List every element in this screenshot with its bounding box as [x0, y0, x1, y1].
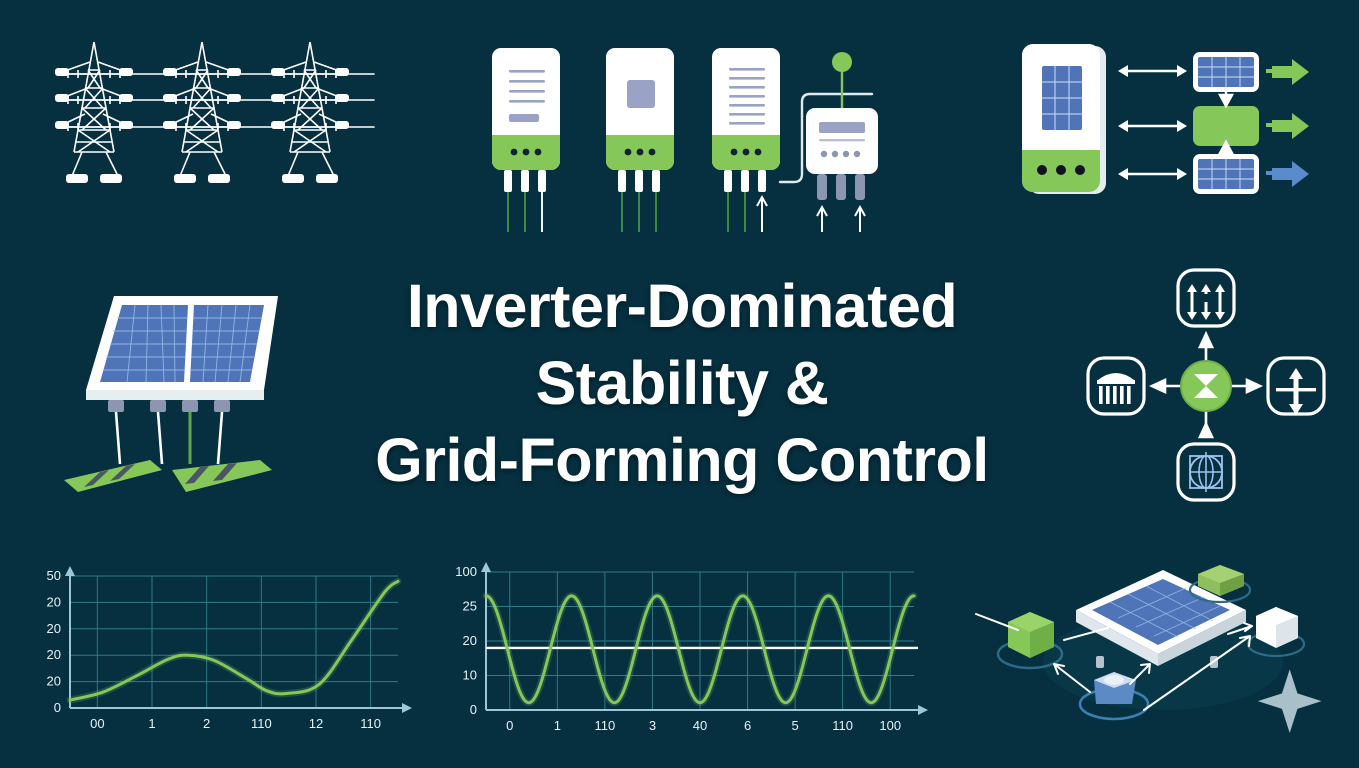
y-axis-tick-label: 20	[47, 647, 61, 662]
tower	[163, 42, 241, 183]
x-axis-tick-label: 100	[879, 718, 901, 733]
title-line-2: Stability &	[320, 345, 1044, 422]
x-axis-tick-label: 110	[595, 718, 616, 733]
infographic-canvas: Inverter-Dominated Stability & Grid-Form…	[0, 0, 1359, 768]
data-line-glow	[70, 581, 398, 700]
inverter-cabinet	[492, 48, 560, 232]
solar-panel-array-illustration	[42, 282, 304, 512]
y-axis-tick-label: 20	[47, 594, 61, 609]
inverter-cabinet	[606, 48, 674, 232]
x-axis-tick-label: 110	[832, 718, 853, 733]
isometric-grid-topology-illustration	[958, 552, 1354, 757]
x-axis-arrow	[918, 705, 928, 715]
grid-meter-controller	[806, 52, 878, 232]
y-axis-tick-label: 25	[463, 599, 477, 614]
page-title: Inverter-Dominated Stability & Grid-Form…	[320, 268, 1044, 499]
device-to-asset-flow-illustration	[1000, 38, 1335, 220]
output-arrow-green	[1266, 113, 1309, 139]
title-line-1: Inverter-Dominated	[320, 268, 1044, 345]
y-axis-tick-label: 100	[455, 564, 477, 579]
y-axis-tick-label: 0	[54, 700, 61, 715]
base-pad	[172, 460, 272, 492]
x-axis-tick-label: 40	[693, 718, 707, 733]
y-axis-tick-label: 0	[470, 702, 477, 717]
chart-left: 50202020200001211012110	[30, 558, 412, 746]
x-axis-arrow	[402, 703, 412, 713]
x-axis-tick-label: 110	[360, 716, 381, 731]
base-pad	[64, 460, 162, 492]
x-axis-tick-label: 6	[744, 718, 751, 733]
x-axis-tick-label: 110	[251, 716, 272, 731]
inverter-cabinets-illustration	[480, 40, 892, 235]
globe-grid-icon	[1178, 444, 1234, 500]
tower	[55, 42, 133, 183]
tower	[271, 42, 349, 183]
chart-center: 10025201000111034065110100	[440, 558, 930, 748]
bank-institution-icon	[1088, 358, 1144, 414]
title-line-3: Grid-Forming Control	[320, 422, 1044, 499]
grid-forming-control-hub-illustration	[1080, 262, 1332, 507]
y-axis-tick-label: 20	[47, 621, 61, 636]
x-axis-tick-label: 00	[90, 716, 104, 731]
multi-direction-arrows-icon	[1178, 270, 1234, 326]
y-axis-arrow	[481, 562, 491, 572]
x-axis-tick-label: 0	[506, 718, 513, 733]
y-axis-tick-label: 10	[463, 668, 477, 683]
y-axis-tick-label: 20	[463, 633, 477, 648]
y-axis-arrow	[65, 566, 75, 576]
output-arrow-blue	[1266, 161, 1309, 187]
x-axis-tick-label: 3	[649, 718, 656, 733]
x-axis-tick-label: 2	[203, 716, 210, 731]
pv-module-block	[1193, 52, 1259, 92]
x-axis-tick-label: 1	[148, 716, 155, 731]
x-axis-tick-label: 5	[791, 718, 798, 733]
y-axis-tick-label: 50	[47, 568, 61, 583]
inverter-device	[1022, 44, 1106, 194]
hub-center-node	[1181, 361, 1231, 411]
x-axis-tick-label: 1	[554, 718, 561, 733]
inverter-cabinet	[712, 48, 780, 232]
x-axis-tick-label: 12	[309, 716, 323, 731]
y-axis-tick-label: 20	[47, 674, 61, 689]
transmission-towers-illustration	[52, 32, 382, 212]
pv-module-block	[1193, 154, 1259, 194]
output-arrow-green	[1266, 59, 1309, 85]
up-down-arrow-icon	[1268, 358, 1324, 415]
